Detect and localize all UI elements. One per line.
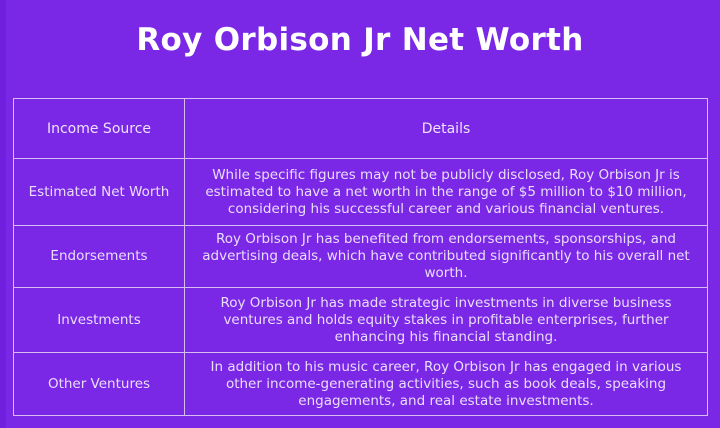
- left-edge-accent-band: [0, 0, 6, 428]
- cell-income-source: Other Ventures: [14, 353, 185, 416]
- column-header-income-source: Income Source: [14, 99, 185, 159]
- cell-details: While specific figures may not be public…: [185, 159, 708, 226]
- table-row: Endorsements Roy Orbison Jr has benefite…: [14, 226, 708, 288]
- table-row: Estimated Net Worth While specific figur…: [14, 159, 708, 226]
- cell-income-source: Estimated Net Worth: [14, 159, 185, 226]
- cell-details: In addition to his music career, Roy Orb…: [185, 353, 708, 416]
- column-header-details: Details: [185, 99, 708, 159]
- table-row: Other Ventures In addition to his music …: [14, 353, 708, 416]
- table-header: Income Source Details: [14, 99, 708, 159]
- net-worth-table: Income Source Details Estimated Net Wort…: [13, 98, 708, 416]
- table-row: Investments Roy Orbison Jr has made stra…: [14, 288, 708, 353]
- cell-details: Roy Orbison Jr has benefited from endors…: [185, 226, 708, 288]
- cell-income-source: Investments: [14, 288, 185, 353]
- page-root: Roy Orbison Jr Net Worth Income Source D…: [0, 0, 720, 428]
- table-body: Estimated Net Worth While specific figur…: [14, 159, 708, 416]
- cell-details: Roy Orbison Jr has made strategic invest…: [185, 288, 708, 353]
- page-title: Roy Orbison Jr Net Worth: [0, 20, 720, 60]
- cell-income-source: Endorsements: [14, 226, 185, 288]
- table-header-row: Income Source Details: [14, 99, 708, 159]
